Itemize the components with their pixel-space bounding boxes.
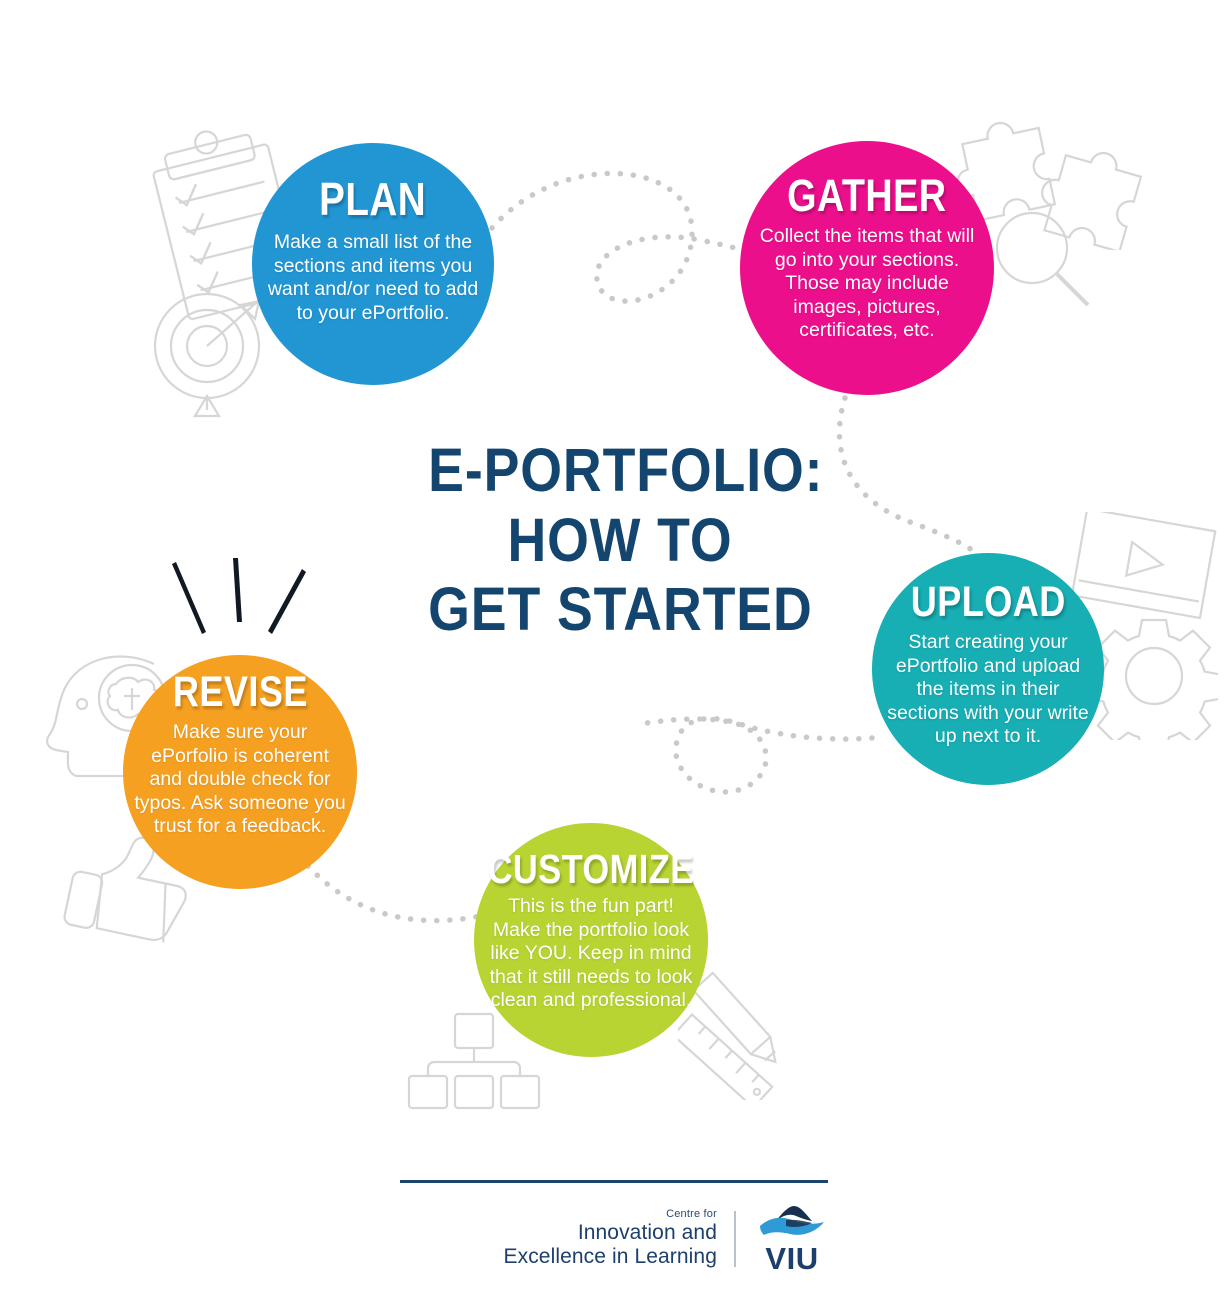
video-player-icon (1070, 512, 1224, 622)
viu-wordmark: VIU (765, 1243, 818, 1274)
step-body-upload: Start creating your ePortfolio and uploa… (872, 631, 1104, 749)
gear-icon (1090, 612, 1218, 740)
step-body-customize: This is the fun part! Make the portfolio… (474, 895, 708, 1013)
centre-lockup: Centre for Innovation and Excellence in … (503, 1208, 734, 1269)
title-line-2: HOW TO (428, 506, 812, 576)
step-title-revise: REVISE (172, 671, 307, 714)
step-bubble-plan[interactable]: PLAN Make a small list of the sections a… (252, 143, 494, 385)
infographic-canvas: E-PORTFOLIO: HOW TO GET STARTED PLAN Mak… (0, 0, 1224, 1296)
connector-customize-to-revise (308, 866, 498, 921)
centre-eyebrow: Centre for (503, 1208, 717, 1221)
magnifying-glass-icon (990, 208, 1100, 313)
step-bubble-customize[interactable]: CUSTOMIZE This is the fun part! Make the… (474, 823, 708, 1057)
connector-upload-to-customize (640, 719, 872, 792)
step-body-revise: Make sure your ePorfolio is coherent and… (123, 721, 357, 839)
page-title: E-PORTFOLIO: HOW TO GET STARTED (402, 436, 838, 645)
viu-mountain-wave-logo-icon (756, 1204, 828, 1240)
spark-lines-icon (160, 556, 320, 666)
viu-logo: VIU (736, 1204, 828, 1274)
step-title-plan: PLAN (320, 176, 427, 222)
title-line-3: GET STARTED (428, 575, 812, 645)
centre-name-line-2: Excellence in Learning (503, 1245, 717, 1269)
step-bubble-revise[interactable]: REVISE Make sure your ePorfolio is coher… (123, 655, 357, 889)
step-bubble-gather[interactable]: GATHER Collect the items that will go in… (740, 141, 994, 395)
title-line-1: E-PORTFOLIO: (428, 436, 812, 506)
step-title-customize: CUSTOMIZE (488, 849, 694, 890)
step-title-gather: GATHER (787, 173, 946, 218)
centre-name-line-1: Innovation and (503, 1221, 717, 1245)
step-title-upload: UPLOAD (910, 581, 1065, 624)
step-body-gather: Collect the items that will go into your… (740, 225, 994, 343)
footer: Centre for Innovation and Excellence in … (400, 1203, 828, 1275)
step-bubble-upload[interactable]: UPLOAD Start creating your ePortfolio an… (872, 553, 1104, 785)
step-body-plan: Make a small list of the sections and it… (252, 231, 494, 325)
footer-divider-rule (400, 1180, 828, 1183)
